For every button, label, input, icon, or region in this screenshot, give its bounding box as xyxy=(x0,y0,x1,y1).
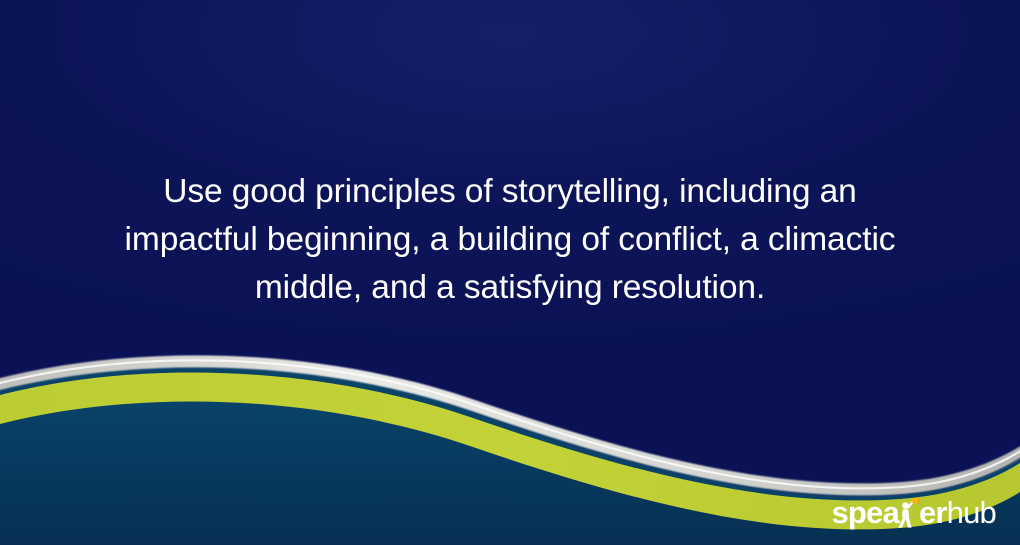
slide-canvas: Use good principles of storytelling, inc… xyxy=(0,0,1020,545)
speakerhub-logo[interactable]: spea erhub xyxy=(831,495,996,531)
logo-text-hub: hub xyxy=(947,495,996,530)
logo-text-er: er xyxy=(919,495,947,530)
logo-text-spea: spea xyxy=(831,495,898,530)
speaker-megaphone-icon xyxy=(898,497,920,528)
wave-decoration xyxy=(0,0,1020,545)
logo-wordmark: spea erhub xyxy=(831,495,996,531)
